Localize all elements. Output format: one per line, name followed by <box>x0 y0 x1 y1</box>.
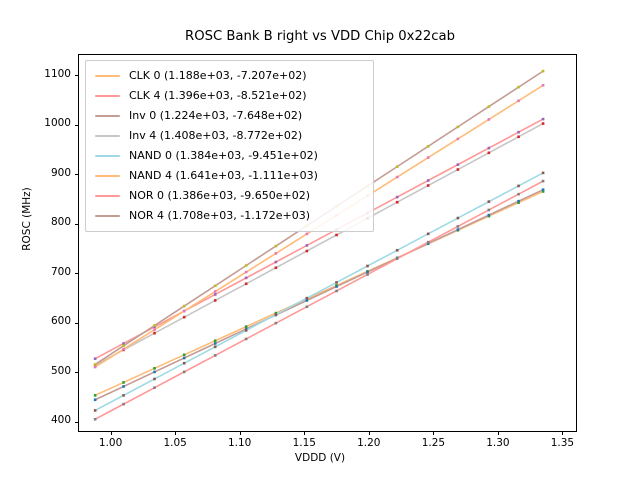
legend-item-inv-4[interactable]: Inv 4 (1.408e+03, -8.772e+02) <box>93 126 366 146</box>
data-point-marker <box>542 122 545 125</box>
data-point-marker <box>122 348 125 351</box>
y-tick-label: 500 <box>51 365 71 377</box>
legend-color-swatch <box>95 95 120 97</box>
data-point-marker <box>122 403 125 406</box>
data-point-marker <box>488 105 491 108</box>
data-point-marker <box>542 172 545 175</box>
data-point-marker <box>275 261 278 264</box>
chart-legend[interactable]: CLK 0 (1.188e+03, -7.207e+02)CLK 4 (1.39… <box>85 60 374 232</box>
legend-item-nand-4[interactable]: NAND 4 (1.641e+03, -1.111e+03) <box>93 166 366 186</box>
data-point-marker <box>214 299 217 302</box>
data-point-marker <box>214 354 217 357</box>
x-tick-mark <box>562 431 563 435</box>
data-point-marker <box>183 354 186 357</box>
legend-item-clk-0[interactable]: CLK 0 (1.188e+03, -7.207e+02) <box>93 66 366 86</box>
data-point-marker <box>153 328 156 331</box>
data-point-marker <box>517 86 520 89</box>
data-point-marker <box>245 282 248 285</box>
data-point-marker <box>457 225 460 228</box>
data-point-marker <box>306 250 309 253</box>
data-point-marker <box>427 145 430 148</box>
y-tick-label: 700 <box>51 266 71 278</box>
data-point-marker <box>457 228 460 231</box>
legend-item-clk-4[interactable]: CLK 4 (1.396e+03, -8.521e+02) <box>93 86 366 106</box>
data-point-marker <box>214 342 217 345</box>
y-tick-label: 900 <box>51 167 71 179</box>
legend-item-nor-0[interactable]: NOR 0 (1.386e+03, -9.650e+02) <box>93 186 366 206</box>
legend-color-swatch <box>95 115 120 117</box>
data-point-marker <box>396 257 399 260</box>
data-point-marker <box>183 316 186 319</box>
legend-item-label: CLK 4 (1.396e+03, -8.521e+02) <box>129 86 307 106</box>
data-point-marker <box>396 249 399 252</box>
data-point-marker <box>335 234 338 237</box>
data-point-marker <box>245 338 248 341</box>
data-point-marker <box>488 152 491 155</box>
data-point-marker <box>542 70 545 73</box>
data-point-marker <box>275 266 278 269</box>
data-point-marker <box>517 193 520 196</box>
data-point-marker <box>122 381 125 384</box>
data-point-marker <box>183 371 186 374</box>
legend-item-nor-4[interactable]: NOR 4 (1.708e+03, -1.172e+03) <box>93 206 366 226</box>
y-tick-mark <box>75 75 79 76</box>
data-point-marker <box>122 345 125 348</box>
data-point-marker <box>306 244 309 247</box>
data-point-marker <box>153 378 156 381</box>
y-tick-mark <box>75 323 79 324</box>
data-point-marker <box>245 329 248 332</box>
data-point-marker <box>427 179 430 182</box>
data-point-marker <box>306 305 309 308</box>
data-point-marker <box>306 299 309 302</box>
data-point-marker <box>396 196 399 199</box>
legend-item-label: NOR 0 (1.386e+03, -9.650e+02) <box>129 186 310 206</box>
data-point-marker <box>122 394 125 397</box>
data-point-marker <box>457 163 460 166</box>
data-point-marker <box>122 385 125 388</box>
data-point-marker <box>94 357 97 360</box>
legend-item-label: NAND 0 (1.384e+03, -9.451e+02) <box>129 146 318 166</box>
data-point-marker <box>335 285 338 288</box>
data-point-marker <box>488 118 491 121</box>
x-tick-mark <box>498 431 499 435</box>
data-point-marker <box>366 265 369 268</box>
y-tick-mark <box>75 174 79 175</box>
y-tick-label: 600 <box>51 315 71 327</box>
data-point-marker <box>214 346 217 349</box>
data-point-marker <box>542 84 545 87</box>
x-tick-mark <box>369 431 370 435</box>
legend-item-inv-0[interactable]: Inv 0 (1.224e+03, -7.648e+02) <box>93 106 366 126</box>
y-tick-mark <box>75 372 79 373</box>
data-point-marker <box>542 118 545 121</box>
data-point-marker <box>427 233 430 236</box>
y-tick-label: 400 <box>51 414 71 426</box>
y-tick-mark <box>75 273 79 274</box>
data-point-marker <box>488 147 491 150</box>
legend-color-swatch <box>95 195 120 197</box>
data-point-marker <box>94 398 97 401</box>
data-point-marker <box>427 184 430 187</box>
data-point-marker <box>214 339 217 342</box>
data-point-marker <box>153 324 156 327</box>
data-point-marker <box>335 290 338 293</box>
data-point-marker <box>427 156 430 159</box>
y-axis-label: ROSC (MHz) <box>21 159 33 279</box>
legend-item-nand-0[interactable]: NAND 0 (1.384e+03, -9.451e+02) <box>93 146 366 166</box>
matplotlib-figure: ROSC Bank B right vs VDD Chip 0x22cab 40… <box>0 0 640 480</box>
data-point-marker <box>245 271 248 274</box>
data-point-marker <box>183 357 186 360</box>
legend-color-swatch <box>95 135 120 137</box>
data-point-marker <box>153 386 156 389</box>
legend-color-swatch <box>95 155 120 157</box>
data-point-marker <box>183 362 186 365</box>
data-point-marker <box>275 313 278 316</box>
data-point-marker <box>306 297 309 300</box>
data-point-marker <box>183 305 186 308</box>
data-point-marker <box>214 290 217 293</box>
x-tick-mark <box>304 431 305 435</box>
data-point-marker <box>183 310 186 313</box>
data-point-marker <box>94 394 97 397</box>
data-point-marker <box>517 99 520 102</box>
data-point-marker <box>396 201 399 204</box>
data-point-marker <box>457 217 460 220</box>
data-point-marker <box>517 200 520 203</box>
x-tick-mark <box>111 431 112 435</box>
legend-item-label: Inv 4 (1.408e+03, -8.772e+02) <box>129 126 302 146</box>
data-point-marker <box>245 264 248 267</box>
legend-item-label: Inv 0 (1.224e+03, -7.648e+02) <box>129 106 302 126</box>
data-point-marker <box>366 273 369 276</box>
y-tick-label: 1000 <box>44 117 71 129</box>
legend-color-swatch <box>95 75 120 77</box>
data-point-marker <box>245 277 248 280</box>
legend-item-label: NAND 4 (1.641e+03, -1.111e+03) <box>129 166 318 186</box>
y-tick-label: 800 <box>51 216 71 228</box>
data-point-marker <box>457 126 460 129</box>
legend-item-label: CLK 0 (1.188e+03, -7.207e+02) <box>129 66 307 86</box>
x-tick-mark <box>240 431 241 435</box>
data-point-marker <box>396 176 399 179</box>
data-point-marker <box>366 271 369 274</box>
data-point-marker <box>94 418 97 421</box>
data-point-marker <box>214 284 217 287</box>
data-point-marker <box>153 371 156 374</box>
y-tick-mark <box>75 224 79 225</box>
data-point-marker <box>94 366 97 369</box>
data-point-marker <box>488 209 491 212</box>
legend-color-swatch <box>95 215 120 217</box>
data-point-marker <box>94 409 97 412</box>
data-point-marker <box>214 293 217 296</box>
data-point-marker <box>153 332 156 335</box>
legend-color-swatch <box>95 175 120 177</box>
x-tick-label: 1.35 <box>522 437 602 449</box>
x-tick-mark <box>175 431 176 435</box>
data-point-marker <box>275 322 278 325</box>
data-point-marker <box>488 200 491 203</box>
data-point-marker <box>517 185 520 188</box>
data-point-marker <box>306 233 309 236</box>
data-point-marker <box>275 245 278 248</box>
data-point-marker <box>517 131 520 134</box>
data-point-marker <box>488 214 491 217</box>
legend-item-label: NOR 4 (1.708e+03, -1.172e+03) <box>129 206 310 226</box>
data-point-marker <box>457 168 460 171</box>
data-point-marker <box>542 188 545 191</box>
data-point-marker <box>335 281 338 284</box>
x-axis-label: VDDD (V) <box>0 452 640 464</box>
data-point-marker <box>396 165 399 168</box>
y-tick-mark <box>75 125 79 126</box>
chart-title: ROSC Bank B right vs VDD Chip 0x22cab <box>0 29 640 44</box>
data-point-marker <box>542 180 545 183</box>
data-point-marker <box>427 241 430 244</box>
data-point-marker <box>153 367 156 370</box>
data-point-marker <box>457 138 460 141</box>
data-point-marker <box>275 252 278 255</box>
x-tick-mark <box>433 431 434 435</box>
data-point-marker <box>245 325 248 328</box>
y-tick-mark <box>75 422 79 423</box>
data-point-marker <box>94 363 97 366</box>
y-tick-label: 1100 <box>44 68 71 80</box>
data-point-marker <box>517 135 520 138</box>
